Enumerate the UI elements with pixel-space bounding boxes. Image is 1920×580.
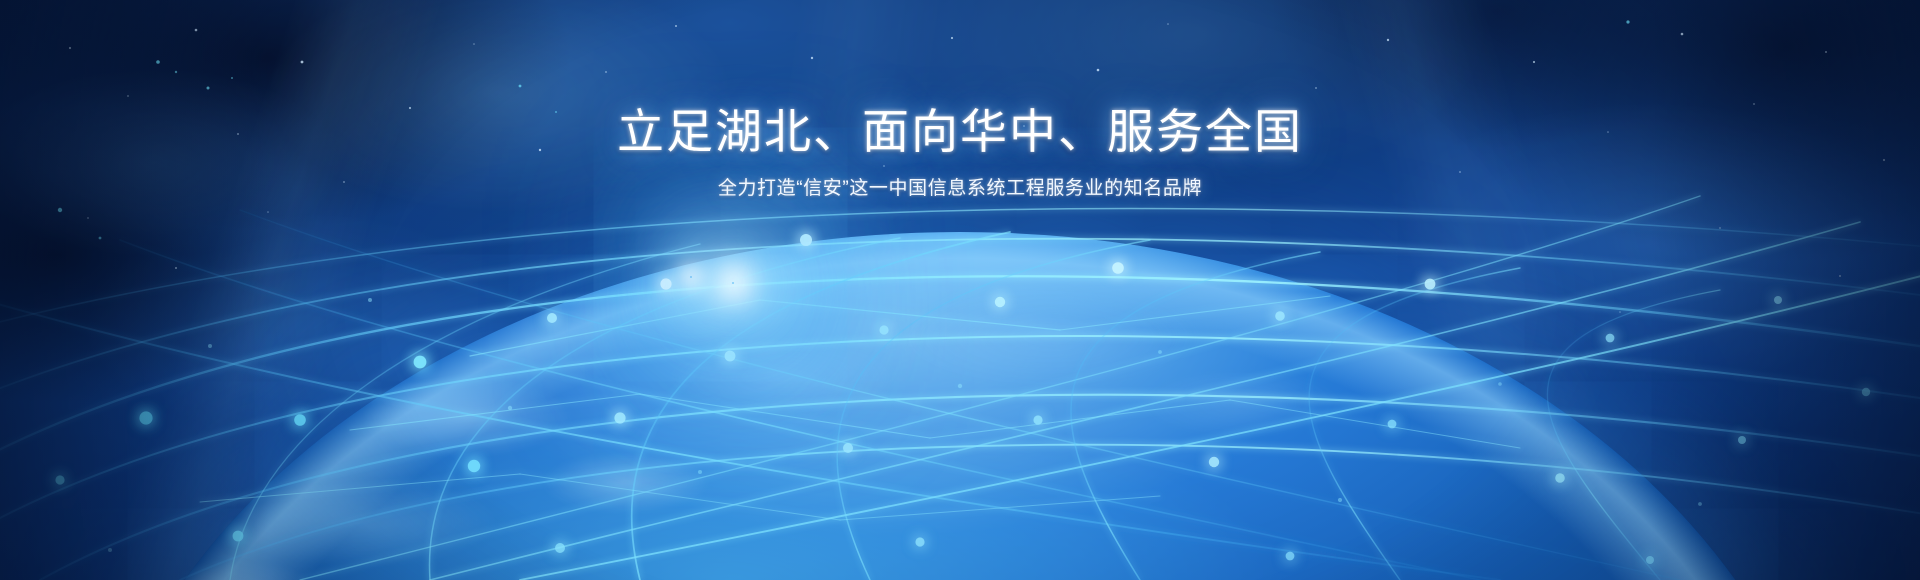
secondary-light-burst [690,276,692,278]
center-light-burst [732,282,734,284]
banner-copy: 立足湖北、面向华中、服务全国 全力打造“信安”这一中国信息系统工程服务业的知名品… [0,0,1920,198]
banner-subheadline: 全力打造“信安”这一中国信息系统工程服务业的知名品牌 [0,179,1920,198]
network-node-group [55,234,1870,564]
hero-banner: 立足湖北、面向华中、服务全国 全力打造“信安”这一中国信息系统工程服务业的知名品… [0,0,1920,580]
banner-headline: 立足湖北、面向华中、服务全国 [0,108,1920,155]
